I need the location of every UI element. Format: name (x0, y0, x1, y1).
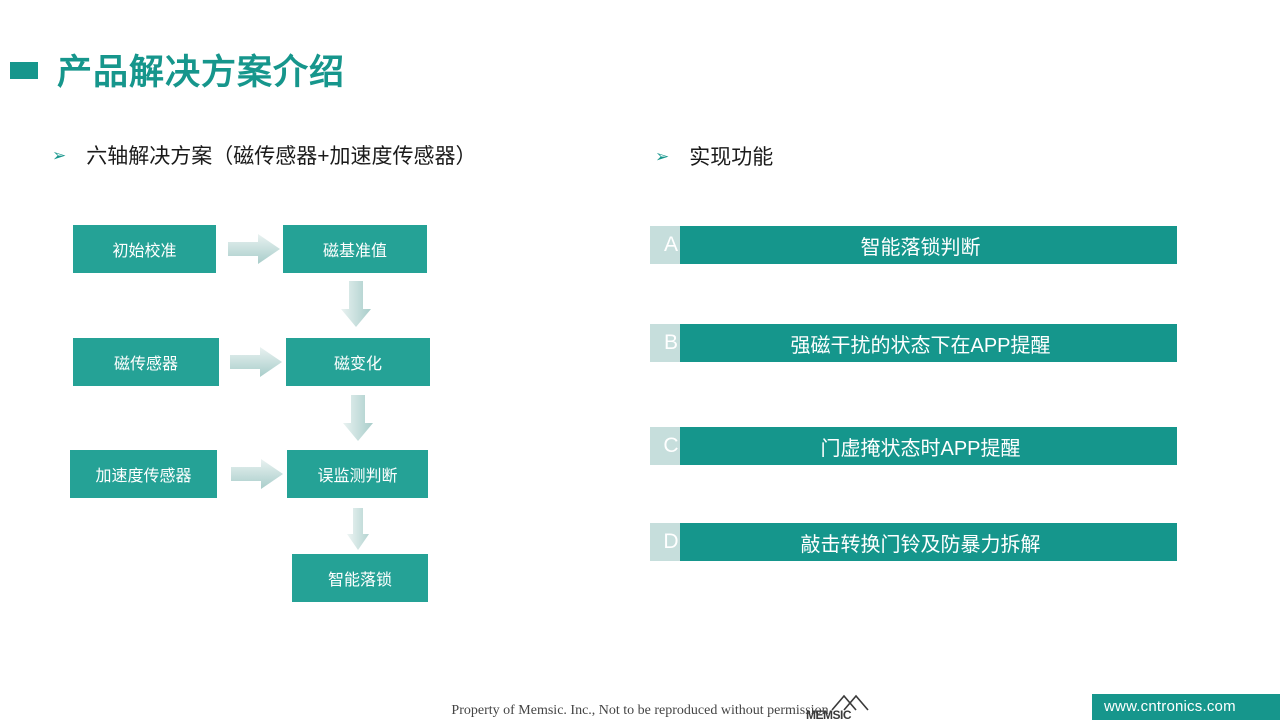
flow-box-accel-sensor: 加速度传感器 (70, 450, 217, 498)
section-heading-right: ➢ 实现功能 (655, 141, 773, 171)
feature-bar-d: 敲击转换门铃及防暴力拆解 (680, 523, 1177, 561)
feature-label-c: 门虚掩状态时APP提醒 (820, 432, 1020, 461)
feature-row-c: C 门虚掩状态时APP提醒 (650, 427, 1177, 465)
arrow-down-icon (347, 508, 369, 550)
flow-box-init-calibration: 初始校准 (73, 225, 216, 273)
page-title: 产品解决方案介绍 (57, 44, 345, 95)
arrow-bullet-icon: ➢ (655, 148, 669, 165)
feature-label-b: 强磁干扰的状态下在APP提醒 (790, 329, 1050, 358)
memsic-logo-icon: MEMSIC (806, 695, 870, 720)
feature-row-d: D 敲击转换门铃及防暴力拆解 (650, 523, 1177, 561)
feature-label-a: 智能落锁判断 (861, 231, 981, 260)
arrow-bullet-icon: ➢ (52, 147, 66, 164)
feature-bar-c: 门虚掩状态时APP提醒 (680, 427, 1177, 465)
feature-bar-b: 强磁干扰的状态下在APP提醒 (680, 324, 1177, 362)
feature-row-b: B 强磁干扰的状态下在APP提醒 (650, 324, 1177, 362)
footer-copyright: Property of Memsic. Inc., Not to be repr… (0, 703, 1280, 719)
arrow-down-icon (341, 281, 371, 327)
flow-box-magnetic-change: 磁变化 (286, 338, 430, 386)
feature-bar-a: 智能落锁判断 (680, 226, 1177, 264)
arrow-right-icon (228, 234, 280, 264)
flow-box-smart-lock: 智能落锁 (292, 554, 428, 602)
flow-box-magnetic-baseline: 磁基准值 (283, 225, 427, 273)
section-heading-right-label: 实现功能 (689, 141, 773, 171)
arrow-right-icon (231, 459, 283, 489)
arrow-down-icon (343, 395, 373, 441)
feature-label-d: 敲击转换门铃及防暴力拆解 (801, 528, 1041, 557)
flow-box-magnetic-sensor: 磁传感器 (73, 338, 219, 386)
website-link[interactable]: www.cntronics.com (1104, 698, 1236, 715)
flow-box-false-detection: 误监测判断 (287, 450, 428, 498)
title-marker-icon (10, 62, 38, 79)
feature-row-a: A 智能落锁判断 (650, 226, 1177, 264)
arrow-right-icon (230, 347, 282, 377)
section-heading-left: ➢ 六轴解决方案（磁传感器+加速度传感器） (52, 140, 477, 170)
section-heading-left-label: 六轴解决方案（磁传感器+加速度传感器） (86, 140, 476, 170)
slide-root: 产品解决方案介绍 ➢ 六轴解决方案（磁传感器+加速度传感器） ➢ 实现功能 初始… (0, 0, 1280, 720)
